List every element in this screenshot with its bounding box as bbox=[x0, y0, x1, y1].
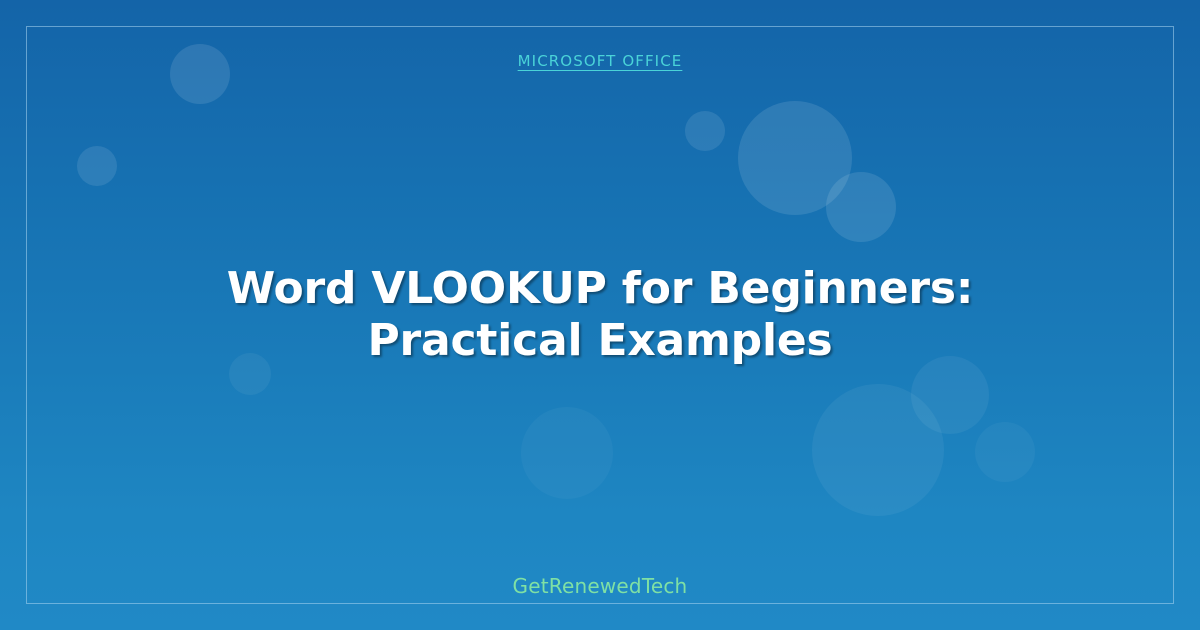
banner-footer: GetRenewedTech bbox=[0, 574, 1200, 598]
banner-content: MICROSOFT OFFICE Word VLOOKUP for Beginn… bbox=[0, 0, 1200, 630]
page-title: Word VLOOKUP for Beginners: Practical Ex… bbox=[150, 263, 1050, 367]
social-share-banner: MICROSOFT OFFICE Word VLOOKUP for Beginn… bbox=[0, 0, 1200, 630]
title-block: Word VLOOKUP for Beginners: Practical Ex… bbox=[150, 263, 1050, 367]
site-name: GetRenewedTech bbox=[513, 574, 688, 598]
category-link[interactable]: MICROSOFT OFFICE bbox=[518, 52, 683, 70]
